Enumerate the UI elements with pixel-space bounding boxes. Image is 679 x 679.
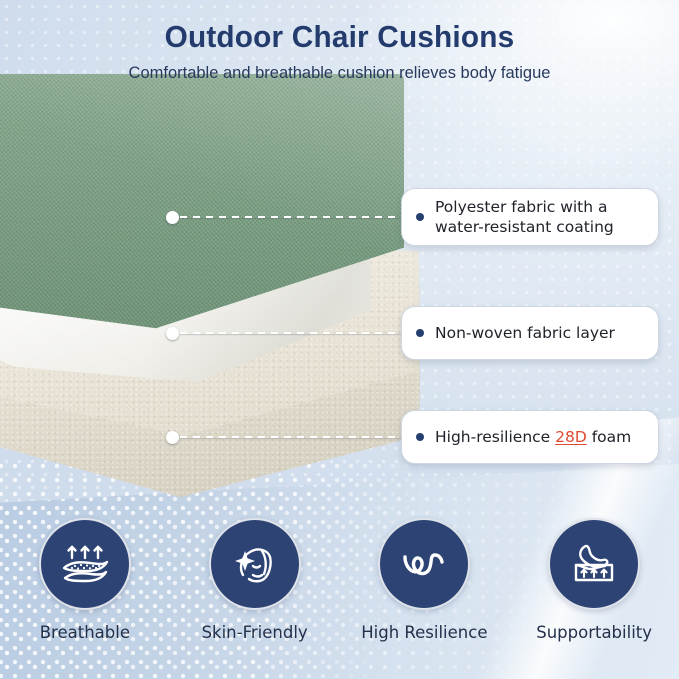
feature-label: Supportability <box>536 623 652 643</box>
feature-supportability[interactable]: Supportability <box>509 518 679 663</box>
skin-friendly-icon <box>226 535 284 593</box>
callout-text: Polyester fabric with a water-resistant … <box>435 197 614 237</box>
breathable-icon <box>56 535 114 593</box>
supportability-icon <box>565 535 623 593</box>
leader-dot-icon <box>166 327 179 340</box>
leader-line-polyester <box>166 210 408 224</box>
page-subtitle: Comfortable and breathable cushion relie… <box>0 56 679 84</box>
feature-label: Skin-Friendly <box>202 623 308 643</box>
breathable-icon-circle <box>39 518 131 610</box>
bullet-icon <box>416 433 424 441</box>
feature-label: Breathable <box>40 623 130 643</box>
leader-line-nonwoven <box>166 326 408 340</box>
leader-dot-icon <box>166 211 179 224</box>
callout-prefix: High-resilience <box>435 428 555 446</box>
feature-label: High Resilience <box>361 623 487 643</box>
bullet-icon <box>416 329 424 337</box>
high-resilience-icon-circle <box>378 518 470 610</box>
callout-line-1: Polyester fabric with a <box>435 198 608 216</box>
sparkle-icon <box>235 551 255 571</box>
leader-dash <box>180 436 408 438</box>
supportability-icon-circle <box>548 518 640 610</box>
leader-dash <box>180 216 408 218</box>
infographic-canvas: Outdoor Chair Cushions Comfortable and b… <box>0 0 679 679</box>
callout-text: High-resilience 28D foam <box>435 427 631 447</box>
leader-dot-icon <box>166 431 179 444</box>
callout-highlight: 28D <box>555 428 587 446</box>
page-title: Outdoor Chair Cushions <box>14 0 666 56</box>
callout-suffix: foam <box>587 428 631 446</box>
feature-breathable[interactable]: Breathable <box>0 518 170 663</box>
header: Outdoor Chair Cushions Comfortable and b… <box>0 0 679 96</box>
callout-foam-layer[interactable]: High-resilience 28D foam <box>401 410 659 464</box>
callout-text: Non-woven fabric layer <box>435 323 615 343</box>
callout-non-woven-layer[interactable]: Non-woven fabric layer <box>401 306 659 360</box>
feature-high-resilience[interactable]: High Resilience <box>340 518 510 663</box>
callout-line-2: water-resistant coating <box>435 218 614 236</box>
callout-polyester-fabric[interactable]: Polyester fabric with a water-resistant … <box>401 188 659 246</box>
high-resilience-icon <box>395 535 453 593</box>
skin-friendly-icon-circle <box>209 518 301 610</box>
leader-dash <box>180 332 408 334</box>
bullet-icon <box>416 213 424 221</box>
leader-line-foam <box>166 430 408 444</box>
feature-row: Breathable Skin-Friendly <box>0 518 679 663</box>
feature-skin-friendly[interactable]: Skin-Friendly <box>170 518 340 663</box>
cushion-layer-illustration <box>0 92 464 512</box>
